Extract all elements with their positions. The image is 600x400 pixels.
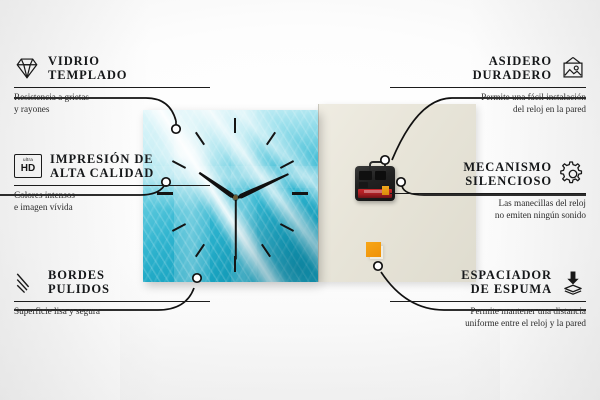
feature-title-line1: MECANISMO <box>463 160 552 174</box>
feature-desc-line2: e imagen vívida <box>14 202 210 214</box>
feature-title-line1: BORDES <box>48 268 110 282</box>
feature-desc-line1: Superficie lisa y segura <box>14 306 210 318</box>
feature-title-line2: DE ESPUMA <box>461 282 552 296</box>
feature-description: Superficie lisa y segura <box>14 306 210 318</box>
feature-divider <box>390 301 586 302</box>
feature-desc-line1: Colores intensos <box>14 190 210 202</box>
feature-title-line2: DURADERO <box>473 68 552 82</box>
feature-impresion-alta-calidad: ultra HD IMPRESIÓN DE ALTA CALIDAD Color… <box>14 152 210 213</box>
clock-mechanism <box>355 166 395 201</box>
feature-divider <box>14 185 210 186</box>
ultra-hd-icon: ultra HD <box>14 154 42 178</box>
mechanism-body-part-a <box>359 171 372 180</box>
feature-description: Permite mantener una distancia uniforme … <box>390 306 586 329</box>
feature-vidrio-templado: VIDRIO TEMPLADO Resistencia a grietas y … <box>14 54 210 115</box>
feature-title-line2: ALTA CALIDAD <box>50 166 154 180</box>
feature-desc-line2: uniforme entre el reloj y la pared <box>390 318 586 330</box>
feature-desc-line2: no emiten ningún sonido <box>390 210 586 222</box>
feature-header: MECANISMO SILENCIOSO <box>390 160 586 191</box>
feature-header: VIDRIO TEMPLADO <box>14 54 210 85</box>
feature-desc-line2: y rayones <box>14 104 210 116</box>
feature-description: Las manecillas del reloj no emiten ningú… <box>390 198 586 221</box>
feature-desc-line1: Permite una fácil instalación <box>390 92 586 104</box>
feature-header: ASIDERO DURADERO <box>390 54 586 85</box>
wall-hanger-icon <box>560 55 586 81</box>
feature-title: IMPRESIÓN DE ALTA CALIDAD <box>50 152 154 180</box>
battery-label <box>364 190 382 193</box>
feature-title: BORDES PULIDOS <box>48 268 110 296</box>
feature-description: Resistencia a grietas y rayones <box>14 92 210 115</box>
feature-title: MECANISMO SILENCIOSO <box>463 160 552 188</box>
feature-bordes-pulidos: BORDES PULIDOS Superficie lisa y segura <box>14 268 210 318</box>
clock-tick-3 <box>292 192 308 195</box>
clock-tick-12 <box>234 118 236 133</box>
feature-mecanismo-silencioso: MECANISMO SILENCIOSO Las manecillas del … <box>390 160 586 221</box>
feature-title: ASIDERO DURADERO <box>473 54 552 82</box>
mechanism-hanger-loop <box>369 161 386 171</box>
ultra-hd-icon-big-label: HD <box>21 164 35 174</box>
polished-edges-icon <box>14 269 40 295</box>
feature-divider <box>14 301 210 302</box>
mechanism-body-part-c <box>359 182 368 188</box>
diamond-icon <box>14 55 40 81</box>
feature-title-line1: ASIDERO <box>473 54 552 68</box>
feature-header: ultra HD IMPRESIÓN DE ALTA CALIDAD <box>14 152 210 183</box>
feature-header: BORDES PULIDOS <box>14 268 210 299</box>
feature-espaciador-de-espuma: ESPACIADOR DE ESPUMA Permite mantener un… <box>390 268 586 329</box>
feature-divider <box>390 87 586 88</box>
feature-title: VIDRIO TEMPLADO <box>48 54 127 82</box>
feature-title-line2: PULIDOS <box>48 282 110 296</box>
feature-desc-line1: Permite mantener una distancia <box>390 306 586 318</box>
feature-desc-line2: del reloj en la pared <box>390 104 586 116</box>
gear-icon <box>560 161 586 187</box>
feature-title-line2: TEMPLADO <box>48 68 127 82</box>
foam-spacer-icon <box>560 269 586 295</box>
mechanism-battery <box>358 189 392 198</box>
feature-description: Permite una fácil instalación del reloj … <box>390 92 586 115</box>
battery-positive-terminal <box>382 186 389 195</box>
feature-title-line1: ESPACIADOR <box>461 268 552 282</box>
feature-title-line1: IMPRESIÓN DE <box>50 152 154 166</box>
feature-title-line2: SILENCIOSO <box>463 174 552 188</box>
feature-header: ESPACIADOR DE ESPUMA <box>390 268 586 299</box>
feature-asidero-duradero: ASIDERO DURADERO Permite una fácil insta… <box>390 54 586 115</box>
clock-second-hand <box>235 198 237 260</box>
clock-center-cap <box>233 195 238 200</box>
product-infographic: VIDRIO TEMPLADO Resistencia a grietas y … <box>0 0 600 400</box>
feature-desc-line1: Resistencia a grietas <box>14 92 210 104</box>
feature-divider <box>390 193 586 194</box>
feature-title-line1: VIDRIO <box>48 54 127 68</box>
feature-description: Colores intensos e imagen vívida <box>14 190 210 213</box>
feature-divider <box>14 87 210 88</box>
feature-desc-line1: Las manecillas del reloj <box>390 198 586 210</box>
feature-title: ESPACIADOR DE ESPUMA <box>461 268 552 296</box>
mechanism-body-part-b <box>375 171 386 180</box>
foam-spacer-pad <box>366 242 381 257</box>
